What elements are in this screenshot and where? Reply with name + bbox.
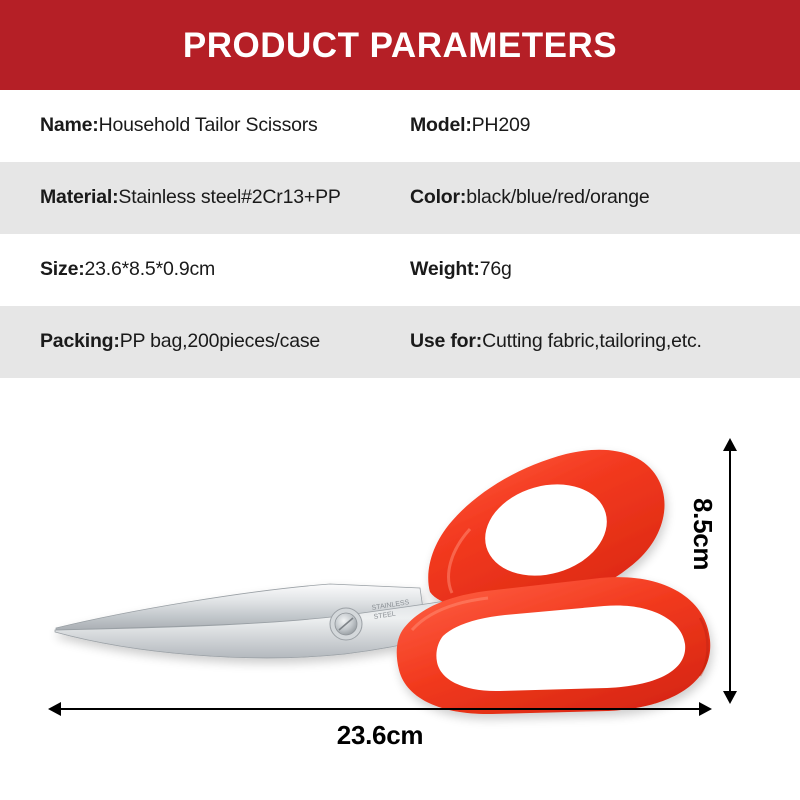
scissors-pivot-screw: [330, 608, 362, 640]
width-arrow-right-head: [699, 702, 712, 716]
height-dimension-label: 8.5cm: [687, 498, 718, 570]
height-dimension-line: [729, 450, 731, 692]
spec-value: Household Tailor Scissors: [99, 114, 318, 136]
spec-value: black/blue/red/orange: [466, 186, 649, 208]
spec-value: Stainless steel#2Cr13+PP: [118, 186, 340, 208]
spec-value: Cutting fabric,tailoring,etc.: [482, 330, 702, 352]
spec-value: PH209: [472, 114, 531, 136]
spec-cell-packing: Packing:PP bag,200pieces/case: [0, 330, 405, 353]
table-row: Size:23.6*8.5*0.9cm Weight:76g: [0, 234, 800, 306]
spec-label: Size:: [40, 258, 85, 280]
table-row: Name:Household Tailor Scissors Model:PH2…: [0, 90, 800, 162]
spec-label: Model:: [410, 114, 472, 136]
spec-cell-name: Name:Household Tailor Scissors: [0, 114, 405, 137]
table-row: Packing:PP bag,200pieces/case Use for:Cu…: [0, 306, 800, 378]
spec-cell-use-for: Use for:Cutting fabric,tailoring,etc.: [405, 330, 800, 353]
width-dimension-label: 23.6cm: [0, 720, 760, 751]
spec-label: Name:: [40, 114, 99, 136]
page-title: PRODUCT PARAMETERS: [183, 28, 617, 63]
spec-label: Use for:: [410, 330, 482, 352]
spec-label: Packing:: [40, 330, 120, 352]
product-parameters-table: Name:Household Tailor Scissors Model:PH2…: [0, 90, 800, 378]
spec-value: 23.6*8.5*0.9cm: [85, 258, 216, 280]
width-dimension-line: [50, 708, 710, 710]
spec-cell-model: Model:PH209: [405, 114, 800, 137]
spec-cell-weight: Weight:76g: [405, 258, 800, 281]
page-header-banner: PRODUCT PARAMETERS: [0, 0, 800, 90]
spec-label: Weight:: [410, 258, 480, 280]
spec-label: Material:: [40, 186, 118, 208]
height-arrow-bottom-head: [723, 691, 737, 704]
spec-label: Color:: [410, 186, 466, 208]
spec-cell-color: Color:black/blue/red/orange: [405, 186, 800, 209]
table-row: Material:Stainless steel#2Cr13+PP Color:…: [0, 162, 800, 234]
spec-cell-material: Material:Stainless steel#2Cr13+PP: [0, 186, 405, 209]
product-image-area: STAINLESS STEEL: [0, 378, 800, 798]
spec-value: PP bag,200pieces/case: [120, 330, 320, 352]
spec-cell-size: Size:23.6*8.5*0.9cm: [0, 258, 405, 281]
spec-value: 76g: [480, 258, 512, 280]
